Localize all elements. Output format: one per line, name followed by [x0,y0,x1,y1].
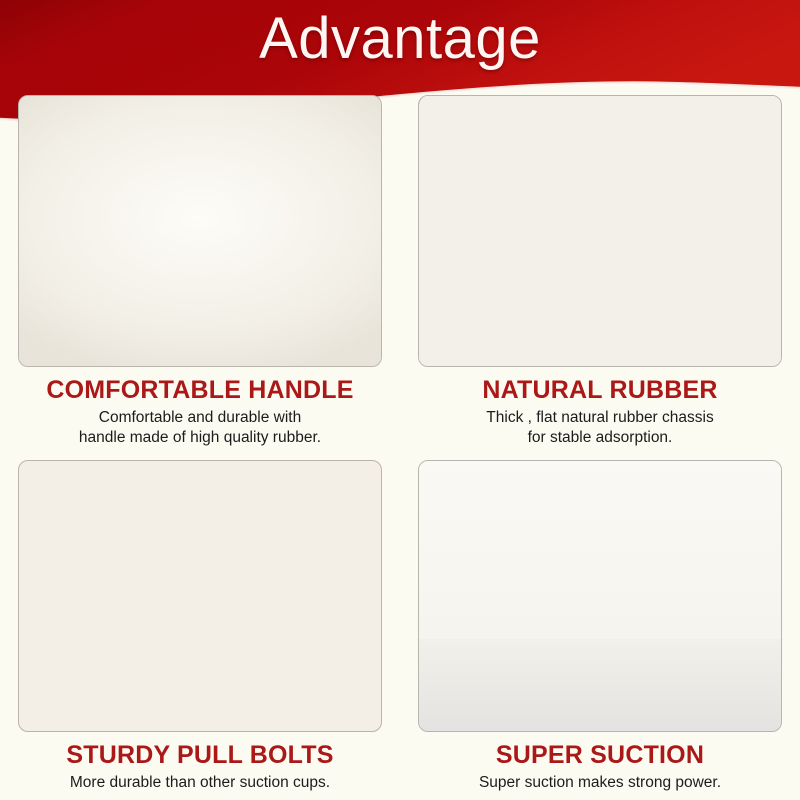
caption-sturdy-pull-bolts: STURDY PULL BOLTS More durable than othe… [0,741,400,793]
photo-sturdy-pull-bolts [18,460,382,732]
photo-background [419,96,781,366]
caption-description-line: More durable than other suction cups. [0,773,400,793]
photo-background [19,96,381,366]
feature-panel-super-suction: SUPER SUCTION Super suction makes strong… [400,444,800,800]
caption-description-line: Thick , flat natural rubber chassis [400,408,800,428]
photo-background [19,461,381,731]
caption-comfortable-handle: COMFORTABLE HANDLE Comfortable and durab… [0,376,400,448]
advertisement-page: Advantage [0,0,800,800]
caption-super-suction: SUPER SUCTION Super suction makes strong… [400,741,800,793]
caption-title: STURDY PULL BOLTS [0,741,400,771]
caption-description: Super suction makes strong power. [400,773,800,793]
feature-panel-sturdy-pull-bolts: STURDY PULL BOLTS More durable than othe… [0,444,400,800]
caption-description: More durable than other suction cups. [0,773,400,793]
caption-description: Thick , flat natural rubber chassis for … [400,408,800,448]
caption-description: Comfortable and durable with handle made… [0,408,400,448]
feature-panel-comfortable-handle: COMFORTABLE HANDLE Comfortable and durab… [0,88,400,444]
photo-super-suction [418,460,782,732]
caption-description-line: Super suction makes strong power. [400,773,800,793]
caption-title: SUPER SUCTION [400,741,800,771]
caption-natural-rubber: NATURAL RUBBER Thick , flat natural rubb… [400,376,800,448]
photo-natural-rubber [418,95,782,367]
photo-comfortable-handle [18,95,382,367]
feature-grid: COMFORTABLE HANDLE Comfortable and durab… [0,88,800,800]
page-title: Advantage [0,8,800,71]
caption-description-line: Comfortable and durable with [0,408,400,428]
caption-title: NATURAL RUBBER [400,376,800,406]
caption-title: COMFORTABLE HANDLE [0,376,400,406]
feature-panel-natural-rubber: NATURAL RUBBER Thick , flat natural rubb… [400,88,800,444]
photo-background [419,461,781,731]
